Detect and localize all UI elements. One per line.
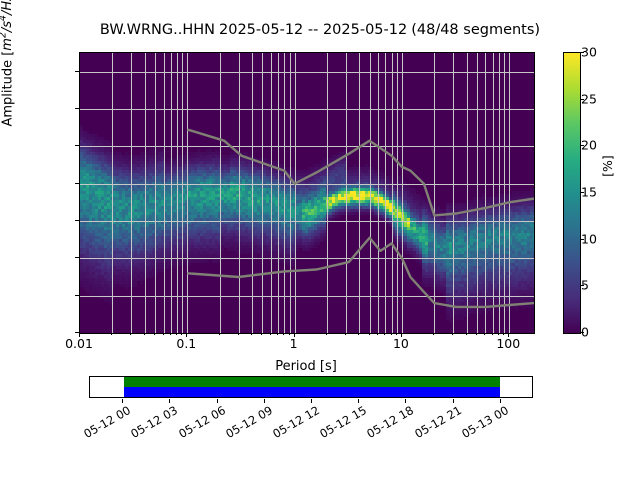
- colorbar-tick-mark: [580, 285, 584, 286]
- x-tick-label: 100: [496, 336, 520, 351]
- coverage-segment-green: [124, 377, 501, 387]
- x-tick-mark: [170, 333, 171, 335]
- x-tick-mark: [345, 333, 346, 335]
- time-tick-mark: [405, 399, 406, 403]
- y-axis-label: Amplitude [m2/s4/Hz] [dB]: [0, 0, 15, 192]
- x-tick-mark: [111, 333, 112, 335]
- x-tick-mark: [251, 333, 252, 335]
- ppsd-plot-area: [80, 53, 534, 333]
- time-tick-label: 05-12 21: [412, 403, 464, 441]
- y-tick-mark: [75, 257, 79, 258]
- x-tick-mark: [369, 333, 370, 335]
- x-tick-mark: [484, 333, 485, 335]
- x-tick-mark: [219, 333, 220, 335]
- x-tick-mark: [270, 333, 271, 335]
- x-tick-mark: [283, 333, 284, 335]
- coverage-bar[interactable]: [89, 376, 533, 398]
- x-tick-mark: [326, 333, 327, 335]
- x-tick-label: 0.01: [65, 336, 93, 351]
- y-tick-mark: [75, 71, 79, 72]
- noise-model-nlnm: [187, 238, 534, 307]
- colorbar-tick-mark: [580, 145, 584, 146]
- time-tick-mark: [453, 399, 454, 403]
- ppsd-axes[interactable]: [79, 52, 535, 334]
- x-tick-mark: [498, 333, 499, 335]
- x-tick-label: 10: [393, 336, 409, 351]
- y-tick-mark: [75, 295, 79, 296]
- time-tick-label: 05-13 00: [459, 403, 511, 441]
- time-tick-mark: [358, 399, 359, 403]
- x-tick-mark: [144, 333, 145, 335]
- x-tick-mark: [176, 333, 177, 335]
- x-tick-mark: [277, 333, 278, 335]
- time-tick-mark: [311, 399, 312, 403]
- x-tick-mark: [289, 333, 290, 335]
- y-tick-mark: [75, 183, 79, 184]
- y-tick-mark: [75, 145, 79, 146]
- time-tick-label: 05-12 09: [223, 403, 275, 441]
- x-tick-mark: [476, 333, 477, 335]
- x-tick-mark: [396, 333, 397, 335]
- time-tick-mark: [264, 399, 265, 403]
- x-tick-label: 1: [290, 336, 298, 351]
- coverage-segment-blue: [124, 387, 501, 397]
- x-tick-mark: [503, 333, 504, 335]
- colorbar-tick-mark: [580, 332, 584, 333]
- x-tick-mark: [377, 333, 378, 335]
- title-station: BW.WRNG..HHN: [100, 22, 215, 38]
- time-tick-mark: [169, 399, 170, 403]
- x-tick-mark: [492, 333, 493, 335]
- time-tick-label: 05-12 18: [365, 403, 417, 441]
- time-tick-label: 05-12 00: [82, 403, 134, 441]
- x-tick-mark: [433, 333, 434, 335]
- x-tick-mark: [163, 333, 164, 335]
- x-tick-mark: [130, 333, 131, 335]
- noise-model-nhnm: [187, 130, 534, 216]
- time-tick-mark: [122, 399, 123, 403]
- x-tick-mark: [238, 333, 239, 335]
- colorbar-label: [%]: [600, 136, 615, 196]
- y-tick-mark: [75, 108, 79, 109]
- colorbar-tick-mark: [580, 52, 584, 53]
- x-tick-mark: [181, 333, 182, 335]
- time-tick-label: 05-12 15: [317, 403, 369, 441]
- x-tick-mark: [358, 333, 359, 335]
- x-axis-label: Period [s]: [79, 359, 533, 374]
- time-tick-label: 05-12 12: [270, 403, 322, 441]
- colorbar-tick-mark: [580, 192, 584, 193]
- noise-model-lines: [80, 53, 534, 333]
- x-tick-mark: [261, 333, 262, 335]
- time-tick-label: 05-12 06: [176, 403, 228, 441]
- x-tick-mark: [452, 333, 453, 335]
- x-tick-label: 0.1: [176, 336, 196, 351]
- title-dates: 2025-05-12 -- 2025-05-12: [215, 22, 407, 38]
- x-tick-mark: [466, 333, 467, 335]
- time-tick-mark: [217, 399, 218, 403]
- x-tick-mark: [154, 333, 155, 335]
- x-tick-mark: [384, 333, 385, 335]
- colorbar-tick-mark: [580, 239, 584, 240]
- title-segments: (48/48 segments): [407, 22, 540, 38]
- ppsd-figure: BW.WRNG..HHN2025-05-12 -- 2025-05-12(48/…: [0, 0, 640, 480]
- x-tick-mark: [391, 333, 392, 335]
- colorbar-tick-mark: [580, 99, 584, 100]
- time-tick-mark: [500, 399, 501, 403]
- y-tick-mark: [75, 220, 79, 221]
- colorbar[interactable]: [563, 52, 581, 334]
- time-tick-label: 05-12 03: [129, 403, 181, 441]
- figure-title: BW.WRNG..HHN2025-05-12 -- 2025-05-12(48/…: [0, 22, 640, 38]
